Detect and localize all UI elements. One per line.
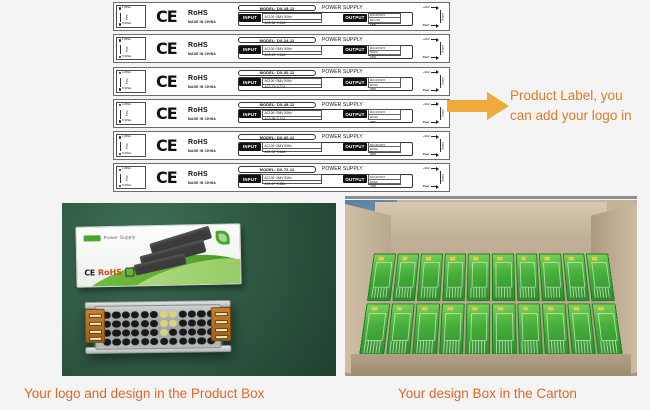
output-terminal-block: +Red Output -Black (411, 134, 447, 157)
input-vertical-label: Input (126, 143, 129, 149)
vent-hole (169, 311, 177, 319)
made-in-label: MADE IN CHINA (188, 52, 216, 57)
output-vertical-label: Output (441, 12, 444, 20)
power-supply-label: POWER SUPPLY (322, 134, 363, 140)
terminal-bar (440, 42, 441, 55)
input-terminal-block: L:White Input N:White (116, 5, 146, 28)
vent-hole (112, 329, 120, 337)
product-label-row: L:White Input N:White CE RoHS MADE IN CH… (113, 67, 450, 96)
input-current-value: AC0.49~0.18A (263, 51, 321, 57)
wire-live: L:White (119, 39, 131, 42)
box-stripes (390, 341, 408, 353)
green-product-box (412, 303, 440, 356)
rohs-label: RoHS (188, 75, 216, 83)
input-vertical-label: Input (126, 78, 129, 84)
output-tag: OUTPUT (343, 110, 367, 118)
output-tag: OUTPUT (343, 46, 367, 54)
vent-hole (198, 337, 206, 345)
input-tag: INPUT (239, 78, 261, 86)
input-vertical-label: Input (126, 13, 129, 19)
output-screw-terminal (211, 307, 231, 341)
model-box: MODEL: DX-18-12 (238, 5, 316, 11)
output-terminal-block: +Red Output -Black (411, 5, 447, 28)
input-current-value: AC1.47~0.55A (263, 180, 321, 186)
input-spec-box: AC100~264V 50Hz AC1.47~0.55A (262, 174, 322, 184)
callout-line-1: Product Label, you (510, 86, 650, 106)
vent-hole (141, 338, 149, 346)
model-label: MODEL: DX-60-12 (260, 135, 295, 140)
vent-hole (113, 338, 121, 346)
vent-hole (160, 329, 168, 337)
terminal-bar (120, 13, 121, 22)
box-stripes (594, 287, 611, 297)
output-power-value: 24W (369, 54, 400, 59)
wire-live-label: L:White (122, 39, 131, 42)
box-stripes (443, 341, 460, 353)
made-in-label: MADE IN CHINA (188, 149, 216, 154)
wire-neutral: N:White (119, 88, 132, 91)
pin-negative-label: -Black (422, 185, 429, 188)
model-label: MODEL: DX-72-12 (260, 167, 295, 172)
box-stripes (496, 341, 513, 353)
screw-terminal-slot (89, 314, 102, 318)
vent-hole (122, 329, 130, 337)
spec-group: MODEL: DX-60-12 POWER SUPPLY INPUT AC100… (238, 134, 413, 159)
rohs-block: RoHS MADE IN CHINA (188, 107, 216, 122)
output-power-value: 48W (369, 119, 400, 124)
box-stripes (495, 287, 511, 297)
pin-negative: -Black (422, 121, 438, 124)
input-tag: INPUT (239, 110, 261, 118)
output-vertical-label: Output (441, 142, 444, 150)
psu-metal-casing (95, 304, 222, 350)
vent-hole (122, 320, 130, 328)
box-stripes (569, 287, 586, 297)
pin-negative: -Black (422, 56, 438, 59)
box-stripes (469, 341, 486, 353)
vent-hole (197, 319, 205, 327)
output-terminal-block: +Red Output -Black (411, 37, 447, 60)
vent-hole (188, 319, 196, 327)
wire-neutral: N:White (119, 23, 132, 26)
output-terminal-block: +Red Output -Black (411, 70, 447, 93)
box-ce-label: CE (84, 268, 95, 277)
rohs-block: RoHS MADE IN CHINA (188, 75, 216, 90)
product-box-photo: Power Supply CERoHS (62, 203, 336, 376)
screw-terminal-slot (215, 320, 228, 324)
product-label-row: L:White Input N:White CE RoHS MADE IN CH… (113, 99, 450, 128)
pin-negative: -Black (422, 24, 438, 27)
model-label: MODEL: DX-48-12 (260, 102, 295, 107)
terminal-dot-icon (119, 56, 122, 59)
input-current-value: AC0.73~0.27A (263, 84, 321, 90)
screw-terminal-slot (215, 328, 228, 332)
box-certification-marks: CERoHS (84, 268, 134, 278)
spec-group: MODEL: DX-18-12 POWER SUPPLY INPUT AC100… (238, 5, 413, 30)
terminal-bar (440, 171, 441, 184)
pin-negative-label: -Black (422, 56, 429, 59)
input-spec-box: AC100~264V 50Hz AC0.98~0.37A (262, 110, 322, 120)
wire-live-label: L:White (122, 104, 131, 107)
box-stripes (548, 341, 565, 353)
ce-mark-icon: CE (156, 168, 177, 187)
product-label-row: L:White Input N:White CE RoHS MADE IN CH… (113, 163, 450, 192)
green-product-box (539, 254, 565, 301)
input-screw-terminal (85, 309, 105, 343)
output-tag: OUTPUT (343, 143, 367, 151)
rohs-label: RoHS (188, 171, 216, 179)
wire-neutral-label: N:White (122, 88, 131, 91)
rohs-label: RoHS (188, 107, 216, 115)
model-box: MODEL: DX-24-12 (238, 37, 316, 43)
product-label-row: L:White Input N:White CE RoHS MADE IN CH… (113, 2, 450, 31)
left-photo-caption: Your logo and design in the Product Box (24, 386, 264, 401)
product-label-row: L:White Input N:White CE RoHS MADE IN CH… (113, 34, 450, 63)
ce-mark-icon: CE (156, 104, 177, 123)
input-spec-box: AC100~264V 50Hz AC0.49~0.18A (262, 45, 322, 55)
input-spec-box: AC100~264V 50Hz AC0.73~0.27A (262, 78, 322, 88)
box-row (359, 303, 623, 356)
photo-top-edge (345, 196, 637, 199)
box-rohs-label: RoHS (98, 268, 122, 278)
wire-live: L:White (119, 7, 131, 10)
made-in-label: MADE IN CHINA (188, 117, 216, 122)
rohs-block: RoHS MADE IN CHINA (188, 42, 216, 57)
vent-hole (169, 337, 177, 345)
vent-hole (122, 311, 130, 319)
screw-terminal-slot (89, 337, 102, 341)
pin-negative-label: -Black (422, 89, 429, 92)
vent-hole (112, 320, 120, 328)
rohs-label: RoHS (188, 42, 216, 50)
box-stripes (396, 287, 413, 297)
screw-terminal-slot (89, 330, 102, 334)
wire-live: L:White (119, 136, 131, 139)
vent-hole (141, 329, 149, 337)
input-vertical-label: Input (126, 110, 129, 116)
arrow-right-icon (431, 25, 438, 26)
vent-hole (160, 337, 168, 345)
model-box: MODEL: DX-60-12 (238, 134, 316, 140)
vent-hole (150, 329, 158, 337)
vent-hole (141, 320, 149, 328)
terminal-bar (120, 174, 121, 183)
green-product-box (417, 254, 443, 301)
green-product-box (439, 303, 465, 356)
terminal-dot-icon (119, 88, 122, 91)
power-supply-label: POWER SUPPLY (322, 37, 363, 43)
vent-hole (178, 311, 186, 319)
terminal-dot-icon (119, 39, 122, 42)
wire-live-label: L:White (122, 72, 131, 75)
output-terminal-block: +Red Output -Black (411, 102, 447, 125)
box-stripes (600, 341, 618, 353)
arrow-right-icon (431, 122, 438, 123)
arrow-right-icon (431, 186, 438, 187)
terminal-dot-icon (119, 136, 122, 139)
rohs-block: RoHS MADE IN CHINA (188, 10, 216, 25)
box-brand-logo-icon (84, 235, 101, 241)
green-product-box (492, 303, 517, 356)
made-in-label: MADE IN CHINA (188, 20, 216, 25)
input-tag: INPUT (239, 175, 261, 183)
vent-hole (150, 320, 158, 328)
pin-positive: +Red (423, 38, 438, 41)
arrow-right-icon (431, 7, 438, 8)
vent-hole (150, 338, 158, 346)
wire-live-label: L:White (122, 136, 131, 139)
vent-hole (197, 310, 205, 318)
terminal-dot-icon (119, 185, 122, 188)
terminal-dot-icon (119, 23, 122, 26)
wire-neutral: N:White (119, 120, 132, 123)
pin-negative: -Black (422, 89, 438, 92)
pin-negative-label: -Black (422, 24, 429, 27)
green-product-box (465, 303, 490, 356)
rohs-block: RoHS MADE IN CHINA (188, 139, 216, 154)
right-photo-caption: Your design Box in the Carton (398, 386, 577, 401)
screw-terminal-slot (215, 312, 228, 316)
pin-positive: +Red (423, 103, 438, 106)
terminal-dot-icon (119, 169, 122, 172)
model-box: MODEL: DX-48-12 (238, 102, 316, 108)
pin-positive: +Red (423, 167, 438, 170)
box-stripes (520, 287, 536, 297)
input-tag: INPUT (239, 14, 261, 22)
screw-terminal-slot (215, 335, 228, 339)
input-terminal-block: L:White Input N:White (116, 70, 146, 93)
output-spec-box: DC12V±0.5 DC6A 72W (368, 174, 401, 185)
box-stripes (363, 341, 381, 353)
power-supply-label: POWER SUPPLY (322, 69, 363, 75)
pin-positive-label: +Red (423, 6, 430, 9)
box-artwork-psu-image (131, 230, 228, 276)
input-terminal-block: L:White Input N:White (116, 37, 146, 60)
input-vertical-label: Input (126, 175, 129, 181)
box-stripes (421, 287, 437, 297)
terminal-dot-icon (119, 72, 122, 75)
pin-negative: -Black (422, 153, 438, 156)
input-terminal-block: L:White Input N:White (116, 134, 146, 157)
pin-positive: +Red (423, 71, 438, 74)
pin-positive-label: +Red (423, 71, 430, 74)
vent-hole (169, 320, 177, 328)
vent-hole (160, 320, 168, 328)
rohs-label: RoHS (188, 139, 216, 147)
input-terminal-block: L:White Input N:White (116, 102, 146, 125)
terminal-dot-icon (119, 120, 122, 123)
vent-hole (188, 310, 196, 318)
packed-boxes-grid (359, 254, 623, 356)
ce-mark-icon: CE (156, 39, 177, 58)
box-stripes (574, 341, 592, 353)
vent-hole (131, 338, 139, 346)
vent-hole (122, 338, 130, 346)
arrow-right-icon (431, 57, 438, 58)
box-stripes (471, 287, 487, 297)
output-spec-box: DC12V±0.5 DC4A 48W (368, 109, 401, 120)
spec-group: MODEL: DX-24-12 POWER SUPPLY INPUT AC100… (238, 37, 413, 62)
input-tag: INPUT (239, 46, 261, 54)
screw-terminal-slot (89, 322, 102, 326)
vent-hole (131, 320, 139, 328)
power-supply-label: POWER SUPPLY (322, 166, 363, 172)
output-spec-box: DC12V±0.5 DC5A 60W (368, 142, 401, 153)
carton-back-wall (375, 202, 607, 238)
callout-arrow-icon (447, 92, 509, 120)
box-tick-icon (125, 268, 134, 277)
model-label: MODEL: DX-24-12 (260, 38, 295, 43)
vent-hole (131, 311, 139, 319)
terminal-bar (120, 110, 121, 119)
terminal-bar (440, 107, 441, 120)
rohs-block: RoHS MADE IN CHINA (188, 171, 216, 186)
product-label-sheet: L:White Input N:White CE RoHS MADE IN CH… (113, 2, 450, 195)
vent-hole (178, 319, 186, 327)
box-stripes (522, 341, 539, 353)
wire-neutral: N:White (119, 153, 132, 156)
arrow-right-icon (431, 136, 438, 137)
terminal-dot-icon (119, 104, 122, 107)
power-supply-label: POWER SUPPLY (322, 102, 363, 108)
vent-hole (179, 337, 187, 345)
power-supply-unit (85, 300, 232, 354)
vent-hole (188, 337, 196, 345)
arrow-right-icon (431, 39, 438, 40)
pin-positive-label: +Red (423, 103, 430, 106)
vent-hole (112, 312, 120, 320)
arrow-right-icon (431, 154, 438, 155)
vent-hole (179, 328, 187, 336)
spec-group: MODEL: DX-48-12 POWER SUPPLY INPUT AC100… (238, 102, 413, 127)
green-product-box (386, 303, 415, 356)
pin-negative: -Black (422, 185, 438, 188)
green-product-box (467, 254, 490, 301)
green-product-box (515, 254, 540, 301)
green-product-box (563, 254, 590, 301)
green-product-box (442, 254, 467, 301)
model-label: MODEL: DX-18-12 (260, 6, 295, 11)
terminal-bar (120, 45, 121, 54)
output-vertical-label: Output (441, 174, 444, 182)
wire-neutral-label: N:White (122, 56, 131, 59)
pin-positive-label: +Red (423, 38, 430, 41)
wire-live-label: L:White (122, 168, 131, 171)
box-stripes (416, 341, 433, 353)
carton-front-wall (351, 354, 631, 376)
model-label: MODEL: DX-36-12 (260, 70, 295, 75)
wire-neutral-label: N:White (122, 153, 131, 156)
ce-mark-icon: CE (156, 136, 177, 155)
output-tag: OUTPUT (343, 14, 367, 22)
ce-mark-icon: CE (156, 7, 177, 26)
output-spec-box: DC12V±0.5 DC1.5A 18W (368, 13, 401, 24)
input-current-value: AC0.98~0.37A (263, 116, 321, 122)
output-vertical-label: Output (441, 45, 444, 53)
terminal-dot-icon (119, 7, 122, 10)
arrow-right-icon (431, 168, 438, 169)
wire-neutral-label: N:White (122, 185, 131, 188)
pin-positive: +Red (423, 6, 438, 9)
input-terminal-block: L:White Input N:White (116, 166, 146, 189)
vent-hole (131, 329, 139, 337)
input-vertical-label: Input (126, 46, 129, 52)
wire-neutral-label: N:White (122, 120, 131, 123)
ventilation-holes (103, 310, 215, 346)
output-vertical-label: Output (441, 77, 444, 85)
green-product-box (492, 254, 515, 301)
pin-negative-label: -Black (422, 121, 429, 124)
output-tag: OUTPUT (343, 78, 367, 86)
wire-neutral: N:White (119, 185, 132, 188)
input-spec-box: AC100~264V 50Hz AC1.23~0.46A (262, 142, 322, 152)
output-power-value: 18W (369, 22, 400, 27)
terminal-bar (440, 10, 441, 23)
input-current-value: AC0.36~0.13A (263, 19, 321, 25)
pin-positive: +Red (423, 135, 438, 138)
wire-live: L:White (119, 72, 131, 75)
spec-group: MODEL: DX-36-12 POWER SUPPLY INPUT AC100… (238, 70, 413, 95)
green-product-box (392, 254, 419, 301)
pin-positive-label: +Red (423, 167, 430, 170)
terminal-bar (120, 142, 121, 151)
box-row (367, 254, 615, 301)
pin-positive-label: +Red (423, 135, 430, 138)
wire-live-label: L:White (122, 7, 131, 10)
vent-hole (198, 328, 206, 336)
output-terminal-block: +Red Output -Black (411, 166, 447, 189)
terminal-bar (440, 139, 441, 152)
output-tag: OUTPUT (343, 175, 367, 183)
made-in-label: MADE IN CHINA (188, 85, 216, 90)
vent-hole (188, 328, 196, 336)
terminal-dot-icon (119, 153, 122, 156)
arrow-right-icon (431, 104, 438, 105)
callout-line-2: can add your logo in (510, 106, 650, 126)
ce-mark-icon: CE (156, 72, 177, 91)
pin-negative-label: -Black (422, 153, 429, 156)
output-power-value: 60W (369, 151, 400, 156)
vent-hole (159, 311, 167, 319)
wire-neutral-label: N:White (122, 23, 131, 26)
carton-photo (345, 200, 637, 376)
output-spec-box: DC12V±0.5 DC3A 36W (368, 77, 401, 88)
input-tag: INPUT (239, 143, 261, 151)
model-box: MODEL: DX-36-12 (238, 70, 316, 76)
input-current-value: AC1.23~0.46A (263, 148, 321, 154)
input-spec-box: AC100~264V 50Hz AC0.36~0.13A (262, 13, 322, 23)
power-supply-label: POWER SUPPLY (322, 5, 363, 11)
terminal-bar (120, 78, 121, 87)
output-spec-box: DC12V±0.5 DC2A 24W (368, 45, 401, 56)
arrow-right-icon (431, 90, 438, 91)
output-power-value: 72W (369, 183, 400, 188)
rohs-label: RoHS (188, 10, 216, 18)
model-box: MODEL: DX-72-12 (238, 166, 316, 172)
vent-hole (169, 328, 177, 336)
green-product-box (567, 303, 596, 356)
green-product-box (542, 303, 570, 356)
spec-group: MODEL: DX-72-12 POWER SUPPLY INPUT AC100… (238, 166, 413, 191)
cardboard-carton (345, 200, 637, 376)
vent-hole (141, 311, 149, 319)
output-vertical-label: Output (441, 109, 444, 117)
terminal-bar (440, 75, 441, 88)
wire-live: L:White (119, 104, 131, 107)
callout-text: Product Label, you can add your logo in (510, 86, 650, 126)
made-in-label: MADE IN CHINA (188, 181, 216, 186)
green-product-box (517, 303, 543, 356)
